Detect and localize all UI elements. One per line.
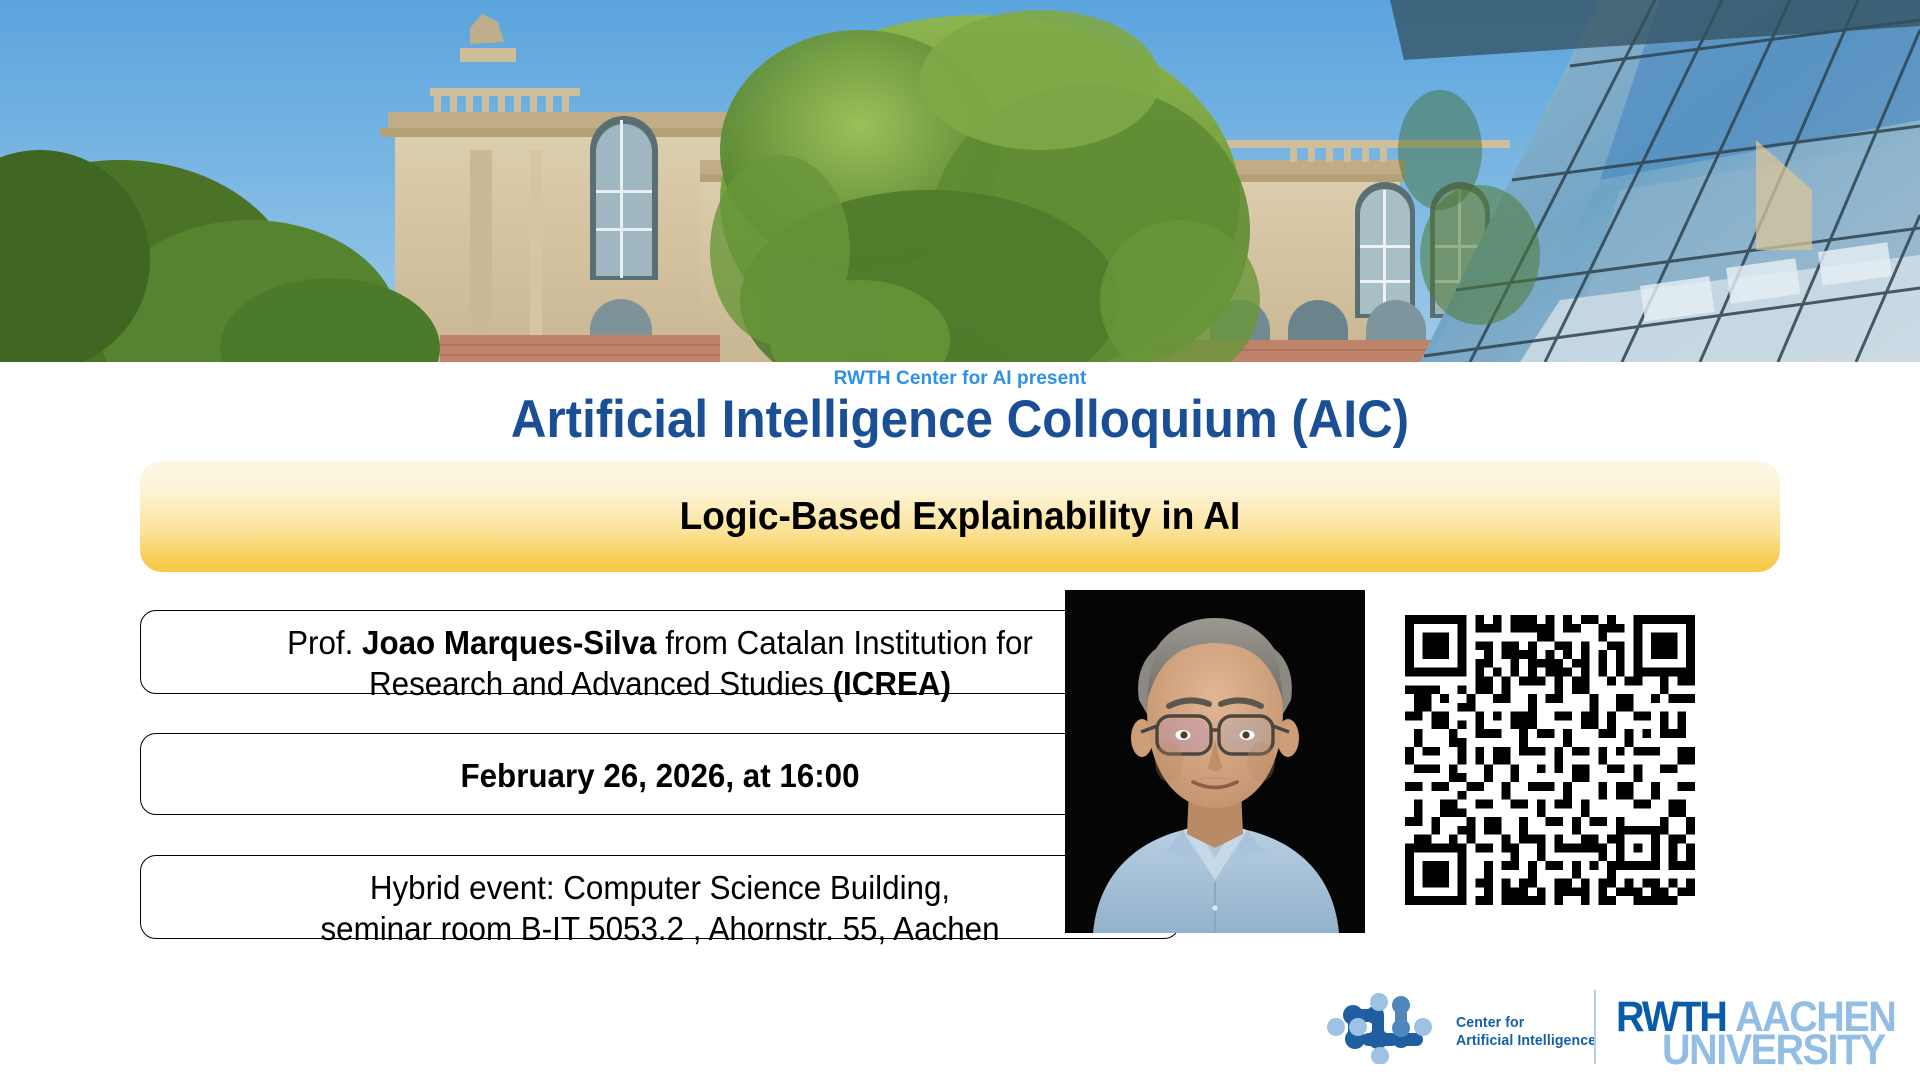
info-line: February 26, 2026, at 16:00 [167, 755, 1153, 796]
header-campus-photo [0, 0, 1920, 362]
cai-line-2: Artificial Intelligence [1456, 1032, 1596, 1050]
rwth-aachen-university-logo: RWTHAACHEN UNIVERSITY [1616, 993, 1906, 1065]
date-info-text: February 26, 2026, at 16:00 [167, 755, 1153, 796]
info-emphasis: (ICREA) [833, 665, 951, 702]
poster-root: RWTH Center for AI present Artificial In… [0, 0, 1920, 1080]
qr-code[interactable] [1405, 615, 1695, 905]
qr-code-matrix [1405, 615, 1695, 905]
location-info-box: Hybrid event: Computer Science Building,… [140, 855, 1180, 939]
logo-divider [1594, 990, 1596, 1064]
location-info-text: Hybrid event: Computer Science Building,… [167, 867, 1153, 949]
cai-line-1: Center for [1456, 1014, 1596, 1032]
presenter-line: RWTH Center for AI present [0, 368, 1920, 390]
center-for-ai-wordmark: Center for Artificial Intelligence [1456, 1014, 1596, 1050]
info-emphasis: Joao Marques-Silva [362, 624, 656, 661]
center-for-ai-logo: Center for Artificial Intelligence [1322, 992, 1592, 1064]
info-plain: Research and Advanced Studies [369, 665, 833, 702]
page-title: Artificial Intelligence Colloquium (AIC) [67, 389, 1853, 450]
info-plain: Hybrid event: Computer Science Building, [370, 869, 950, 906]
rwth-university: UNIVERSITY [1662, 1026, 1885, 1075]
campus-photo-illustration [0, 0, 1920, 362]
info-plain: seminar room B-IT 5053.2 , Ahornstr. 55,… [320, 910, 999, 947]
info-line: Research and Advanced Studies (ICREA) [167, 663, 1153, 704]
speaker-info-box: Prof. Joao Marques-Silva from Catalan In… [140, 610, 1180, 694]
info-emphasis: February 26, 2026, at 16:00 [460, 757, 859, 794]
talk-title-banner: Logic-Based Explainability in AI [140, 461, 1780, 572]
date-info-box: February 26, 2026, at 16:00 [140, 733, 1180, 815]
rwth-logo-row-2: UNIVERSITY [1662, 1026, 1904, 1075]
network-nodes-icon-graphic [1322, 992, 1448, 1064]
speaker-info-text: Prof. Joao Marques-Silva from Catalan In… [167, 622, 1153, 704]
info-line: Hybrid event: Computer Science Building, [167, 867, 1153, 908]
speaker-portrait-illustration [1065, 590, 1365, 933]
speaker-portrait [1065, 590, 1365, 933]
talk-title: Logic-Based Explainability in AI [181, 495, 1739, 539]
info-line: Prof. Joao Marques-Silva from Catalan In… [167, 622, 1153, 663]
network-nodes-icon [1322, 992, 1448, 1064]
info-line: seminar room B-IT 5053.2 , Ahornstr. 55,… [167, 908, 1153, 949]
info-plain: Prof. [287, 624, 362, 661]
info-plain: from Catalan Institution for [656, 624, 1032, 661]
